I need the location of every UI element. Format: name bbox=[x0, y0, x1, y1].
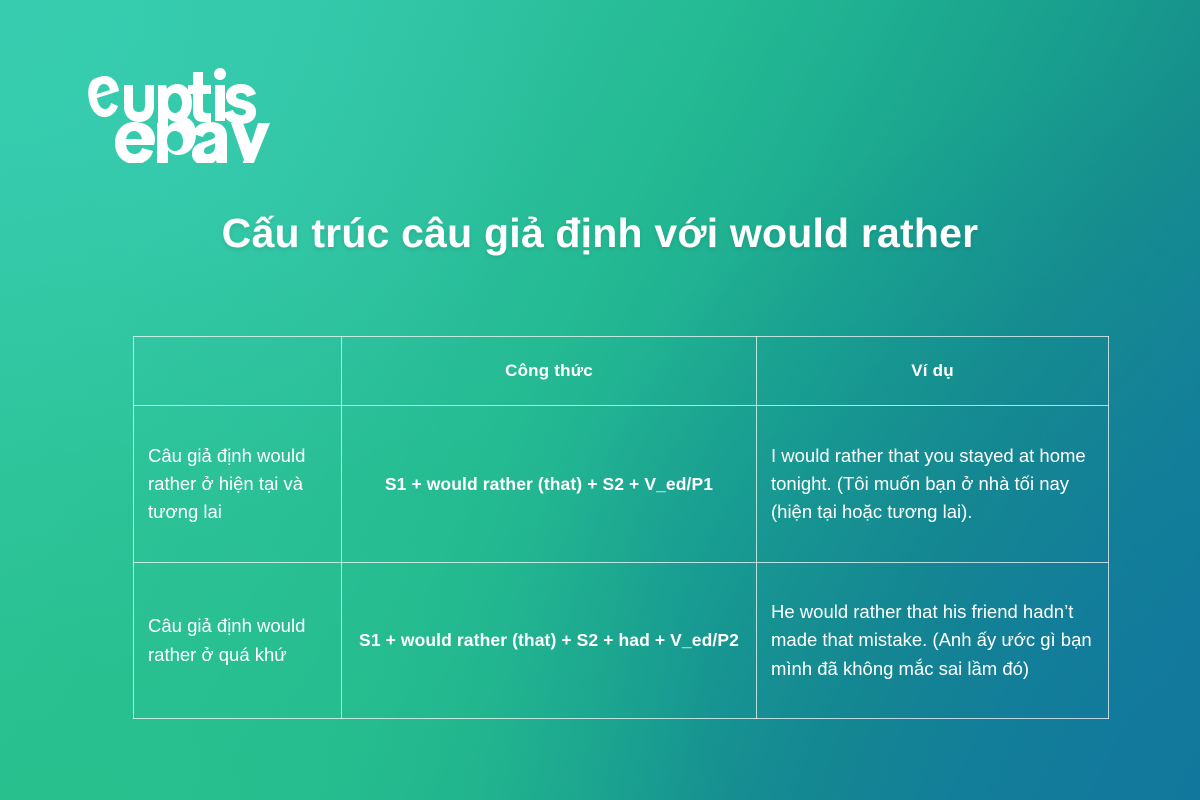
table-header-cell-formula: Công thức bbox=[342, 337, 757, 406]
row-label: Câu giả định would rather ở hiện tại và … bbox=[134, 406, 342, 563]
brand-logo bbox=[88, 58, 278, 163]
row-formula: S1 + would rather (that) + S2 + V_ed/P1 bbox=[342, 406, 757, 563]
table-body: Câu giả định would rather ở hiện tại và … bbox=[134, 406, 1109, 719]
table-header-row: Công thức Ví dụ bbox=[134, 337, 1109, 406]
poster-canvas: Cấu trúc câu giả định với would rather C… bbox=[0, 0, 1200, 800]
row-example: I would rather that you stayed at home t… bbox=[757, 406, 1109, 563]
table-header-cell-blank bbox=[134, 337, 342, 406]
grammar-table: Công thức Ví dụ Câu giả định would rathe… bbox=[133, 336, 1109, 719]
grammar-table-container: Công thức Ví dụ Câu giả định would rathe… bbox=[133, 336, 1108, 718]
euptis-easy-wordmark-icon bbox=[88, 58, 278, 163]
page-title: Cấu trúc câu giả định với would rather bbox=[0, 207, 1200, 260]
table-row: Câu giả định would rather ở hiện tại và … bbox=[134, 406, 1109, 563]
row-label: Câu giả định would rather ở quá khứ bbox=[134, 563, 342, 719]
row-formula: S1 + would rather (that) + S2 + had + V_… bbox=[342, 563, 757, 719]
table-header: Công thức Ví dụ bbox=[134, 337, 1109, 406]
row-example: He would rather that his friend hadn’t m… bbox=[757, 563, 1109, 719]
table-header-cell-example: Ví dụ bbox=[757, 337, 1109, 406]
table-row: Câu giả định would rather ở quá khứ S1 +… bbox=[134, 563, 1109, 719]
